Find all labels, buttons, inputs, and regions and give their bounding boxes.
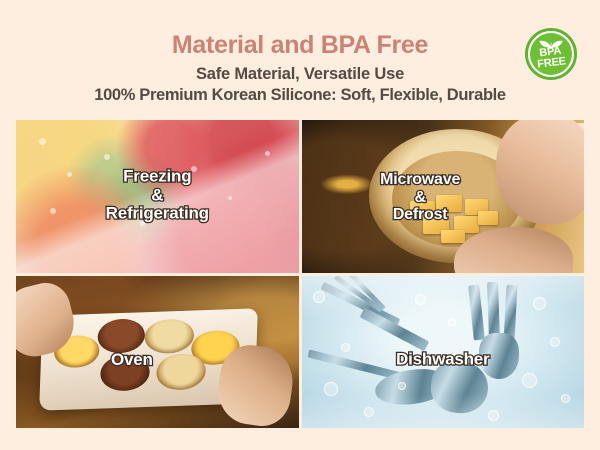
panel-label-line-1: Dishwasher	[302, 350, 585, 368]
subtitle-primary: Safe Material, Versatile Use	[0, 65, 600, 84]
feature-panel-grid: Freezing & Refrigerating	[16, 120, 584, 428]
panel-dishwasher: Dishwasher	[302, 276, 585, 429]
panel-freezing: Freezing & Refrigerating	[16, 120, 299, 273]
panel-label-line-1: Oven	[16, 351, 273, 369]
panel-label-line-1: Freezing	[16, 168, 299, 186]
panel-label-freezing: Freezing & Refrigerating	[16, 168, 299, 223]
panel-label-line-2: &	[16, 186, 299, 204]
panel-label-microwave: Microwave & Defrost	[318, 171, 521, 223]
panel-label-line-3: Refrigerating	[16, 204, 299, 222]
panel-microwave: Microwave & Defrost	[302, 120, 585, 273]
panel-label-line-3: Defrost	[318, 206, 521, 223]
panel-label-line-1: Microwave	[318, 171, 521, 188]
panel-label-oven: Oven	[16, 351, 273, 369]
panel-label-dishwasher: Dishwasher	[302, 350, 585, 368]
panel-label-line-2: &	[318, 189, 521, 206]
panel-oven: Oven	[16, 276, 299, 429]
subtitle-secondary: 100% Premium Korean Silicone: Soft, Flex…	[0, 86, 600, 105]
bpa-free-badge: BPA FREE	[525, 28, 577, 80]
page-title: Material and BPA Free	[0, 33, 600, 58]
header: Material and BPA Free Safe Material, Ver…	[0, 0, 600, 118]
